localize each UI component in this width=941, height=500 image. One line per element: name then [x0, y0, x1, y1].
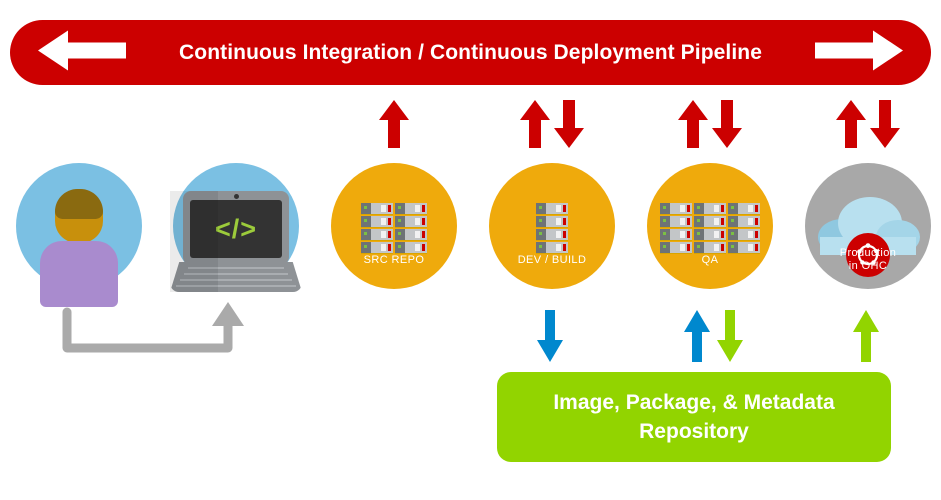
- pipeline-arrow-dev-build-up: [519, 100, 551, 153]
- node-qa-label: QA: [647, 254, 773, 267]
- repo-arrow-dev-build-down: [536, 310, 564, 367]
- server-rack-icon: [660, 203, 760, 254]
- page-title: Continuous Integration / Continuous Depl…: [10, 20, 931, 85]
- node-developer[interactable]: [16, 163, 142, 289]
- pipeline-arrow-qa-down: [711, 100, 743, 153]
- pipeline-banner: Continuous Integration / Continuous Depl…: [10, 20, 931, 85]
- server-rack-icon: [536, 203, 568, 254]
- repository-box[interactable]: Image, Package, & Metadata Repository: [497, 372, 891, 462]
- pipeline-arrow-qa-up: [677, 100, 709, 153]
- repo-arrow-qa-up: [683, 310, 711, 367]
- code-glyph: </>: [215, 214, 257, 245]
- repo-arrow-qa-down: [716, 310, 744, 367]
- pipeline-arrow-production-down: [869, 100, 901, 153]
- node-dev-build-label: DEV / BUILD: [489, 254, 615, 267]
- person-avatar-icon: [16, 163, 142, 289]
- node-src-repo-label: SRC REPO: [331, 254, 457, 267]
- elbow-arrow-icon: [62, 300, 252, 363]
- node-src-repo[interactable]: SRC REPO: [331, 163, 457, 289]
- pipeline-arrow-dev-build-down: [553, 100, 585, 153]
- diagram-canvas: Continuous Integration / Continuous Depl…: [0, 0, 941, 500]
- repository-label: Image, Package, & Metadata Repository: [553, 388, 834, 446]
- laptop-code-icon: </>: [173, 163, 299, 289]
- arrow-right-icon: [811, 26, 907, 79]
- node-dev-build[interactable]: DEV / BUILD: [489, 163, 615, 289]
- node-workstation[interactable]: </>: [173, 163, 299, 289]
- node-production-label: Production in OHC: [805, 247, 931, 273]
- server-rack-icon: [361, 203, 427, 254]
- cloud-openshift-icon: [816, 193, 920, 255]
- node-qa[interactable]: QA: [647, 163, 773, 289]
- repo-arrow-production-up: [852, 310, 880, 367]
- node-production[interactable]: Production in OHC: [805, 163, 931, 289]
- pipeline-arrow-production-up: [835, 100, 867, 153]
- pipeline-arrow-src-repo-up: [378, 100, 410, 153]
